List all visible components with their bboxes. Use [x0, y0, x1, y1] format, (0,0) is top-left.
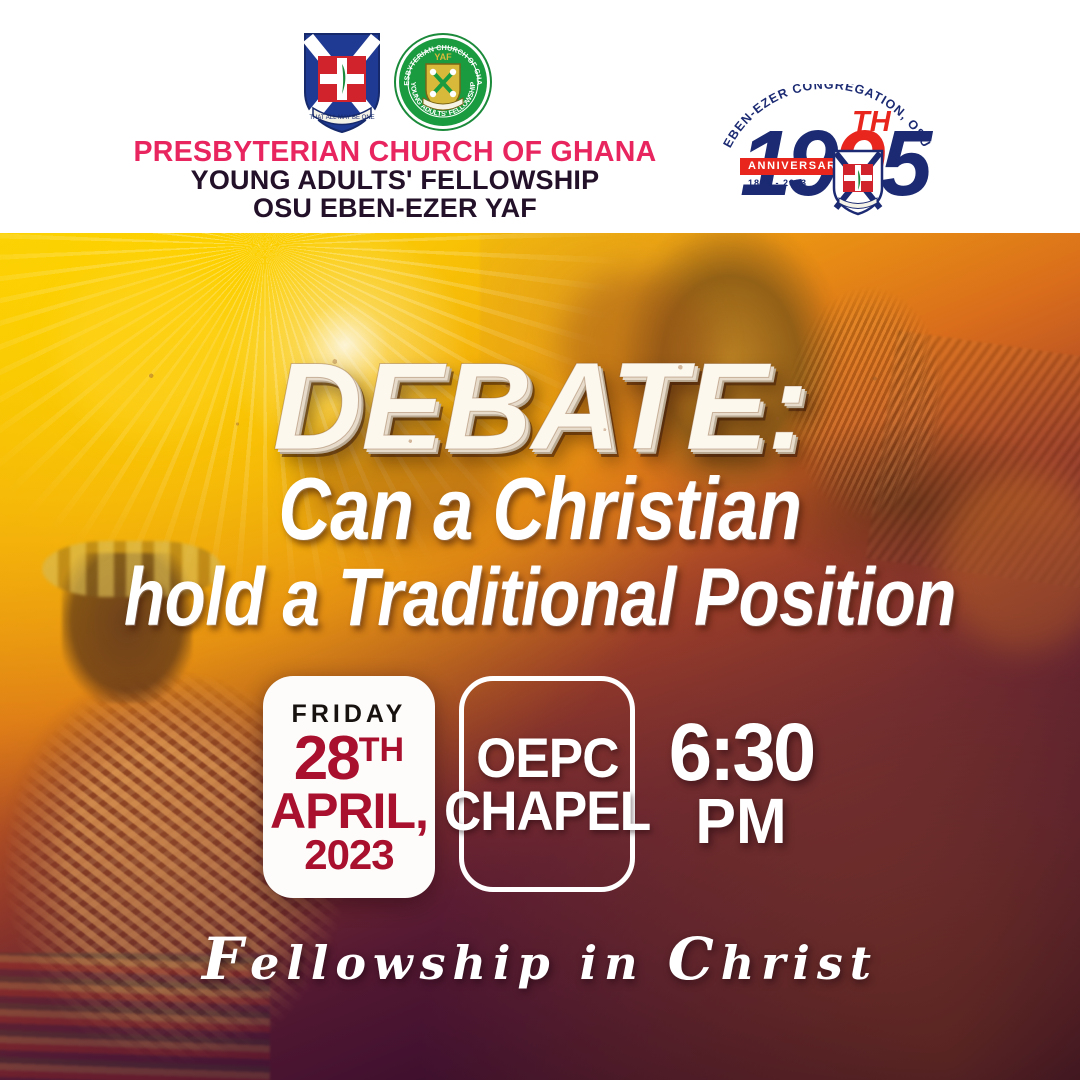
venue-line-1: OEPC [476, 731, 618, 784]
event-details-row: FRIDAY 28TH APRIL, 2023 OEPC CHAPEL 6:30… [0, 676, 1080, 916]
pcg-crest-icon: THAT ALL MAY BE ONE [299, 30, 385, 135]
date-month: APRIL, [270, 787, 428, 835]
date-day-number: 28TH [294, 729, 404, 790]
tagline-rest-1: ellowship in [250, 936, 667, 990]
debate-heading: DEBATE: [0, 336, 1080, 478]
date-card: FRIDAY 28TH APRIL, 2023 [263, 676, 435, 898]
tagline-f: F [202, 925, 250, 993]
question-line-1: Can a Christian [97, 465, 983, 553]
org-line-1: PRESBYTERIAN CHURCH OF GHANA [0, 138, 790, 167]
organisation-title: PRESBYTERIAN CHURCH OF GHANA YOUNG ADULT… [0, 138, 790, 223]
venue-card: OEPC CHAPEL [459, 676, 635, 892]
question-heading: Can a Christian hold a Traditional Posit… [0, 465, 1080, 641]
anniversary-years: 1828 - 2023 [748, 178, 807, 188]
anniversary-logo: EBEN-EZER CONGREGATION, OSU 1995 TH ANNI… [712, 84, 942, 224]
question-line-2: hold a Traditional Position [97, 555, 983, 641]
pcg-motto: THAT ALL MAY BE ONE [309, 115, 374, 121]
anniversary-ordinal: TH [852, 106, 891, 139]
tagline-c: C [668, 925, 721, 993]
time-block: 6:30 PM [659, 676, 817, 892]
time-period: PM [695, 789, 786, 853]
yaf-center-label: YAF [434, 52, 452, 62]
time-hour-minute: 6:30 [669, 715, 814, 790]
logo-row: THAT ALL MAY BE ONE PRESBYTERIAN CHURCH … [292, 28, 500, 136]
venue-line-2: CHAPEL [444, 784, 650, 837]
debate-heading-text: DEBATE: [273, 336, 808, 478]
tagline-rest-2: hrist [721, 936, 878, 990]
header-band: THAT ALL MAY BE ONE PRESBYTERIAN CHURCH … [0, 0, 1080, 233]
event-flyer: THAT ALL MAY BE ONE PRESBYTERIAN CHURCH … [0, 0, 1080, 1080]
org-line-2: YOUNG ADULTS' FELLOWSHIP [0, 167, 790, 195]
anniversary-crest-icon [830, 148, 886, 216]
tagline: Fellowship in Christ [0, 925, 1080, 993]
yaf-seal-icon: PRESBYTERIAN CHURCH OF GHANA YOUNG ADULT… [393, 32, 493, 132]
org-line-3: OSU EBEN-EZER YAF [0, 195, 790, 223]
date-day-suffix: TH [359, 731, 404, 769]
date-year: 2023 [304, 834, 393, 876]
